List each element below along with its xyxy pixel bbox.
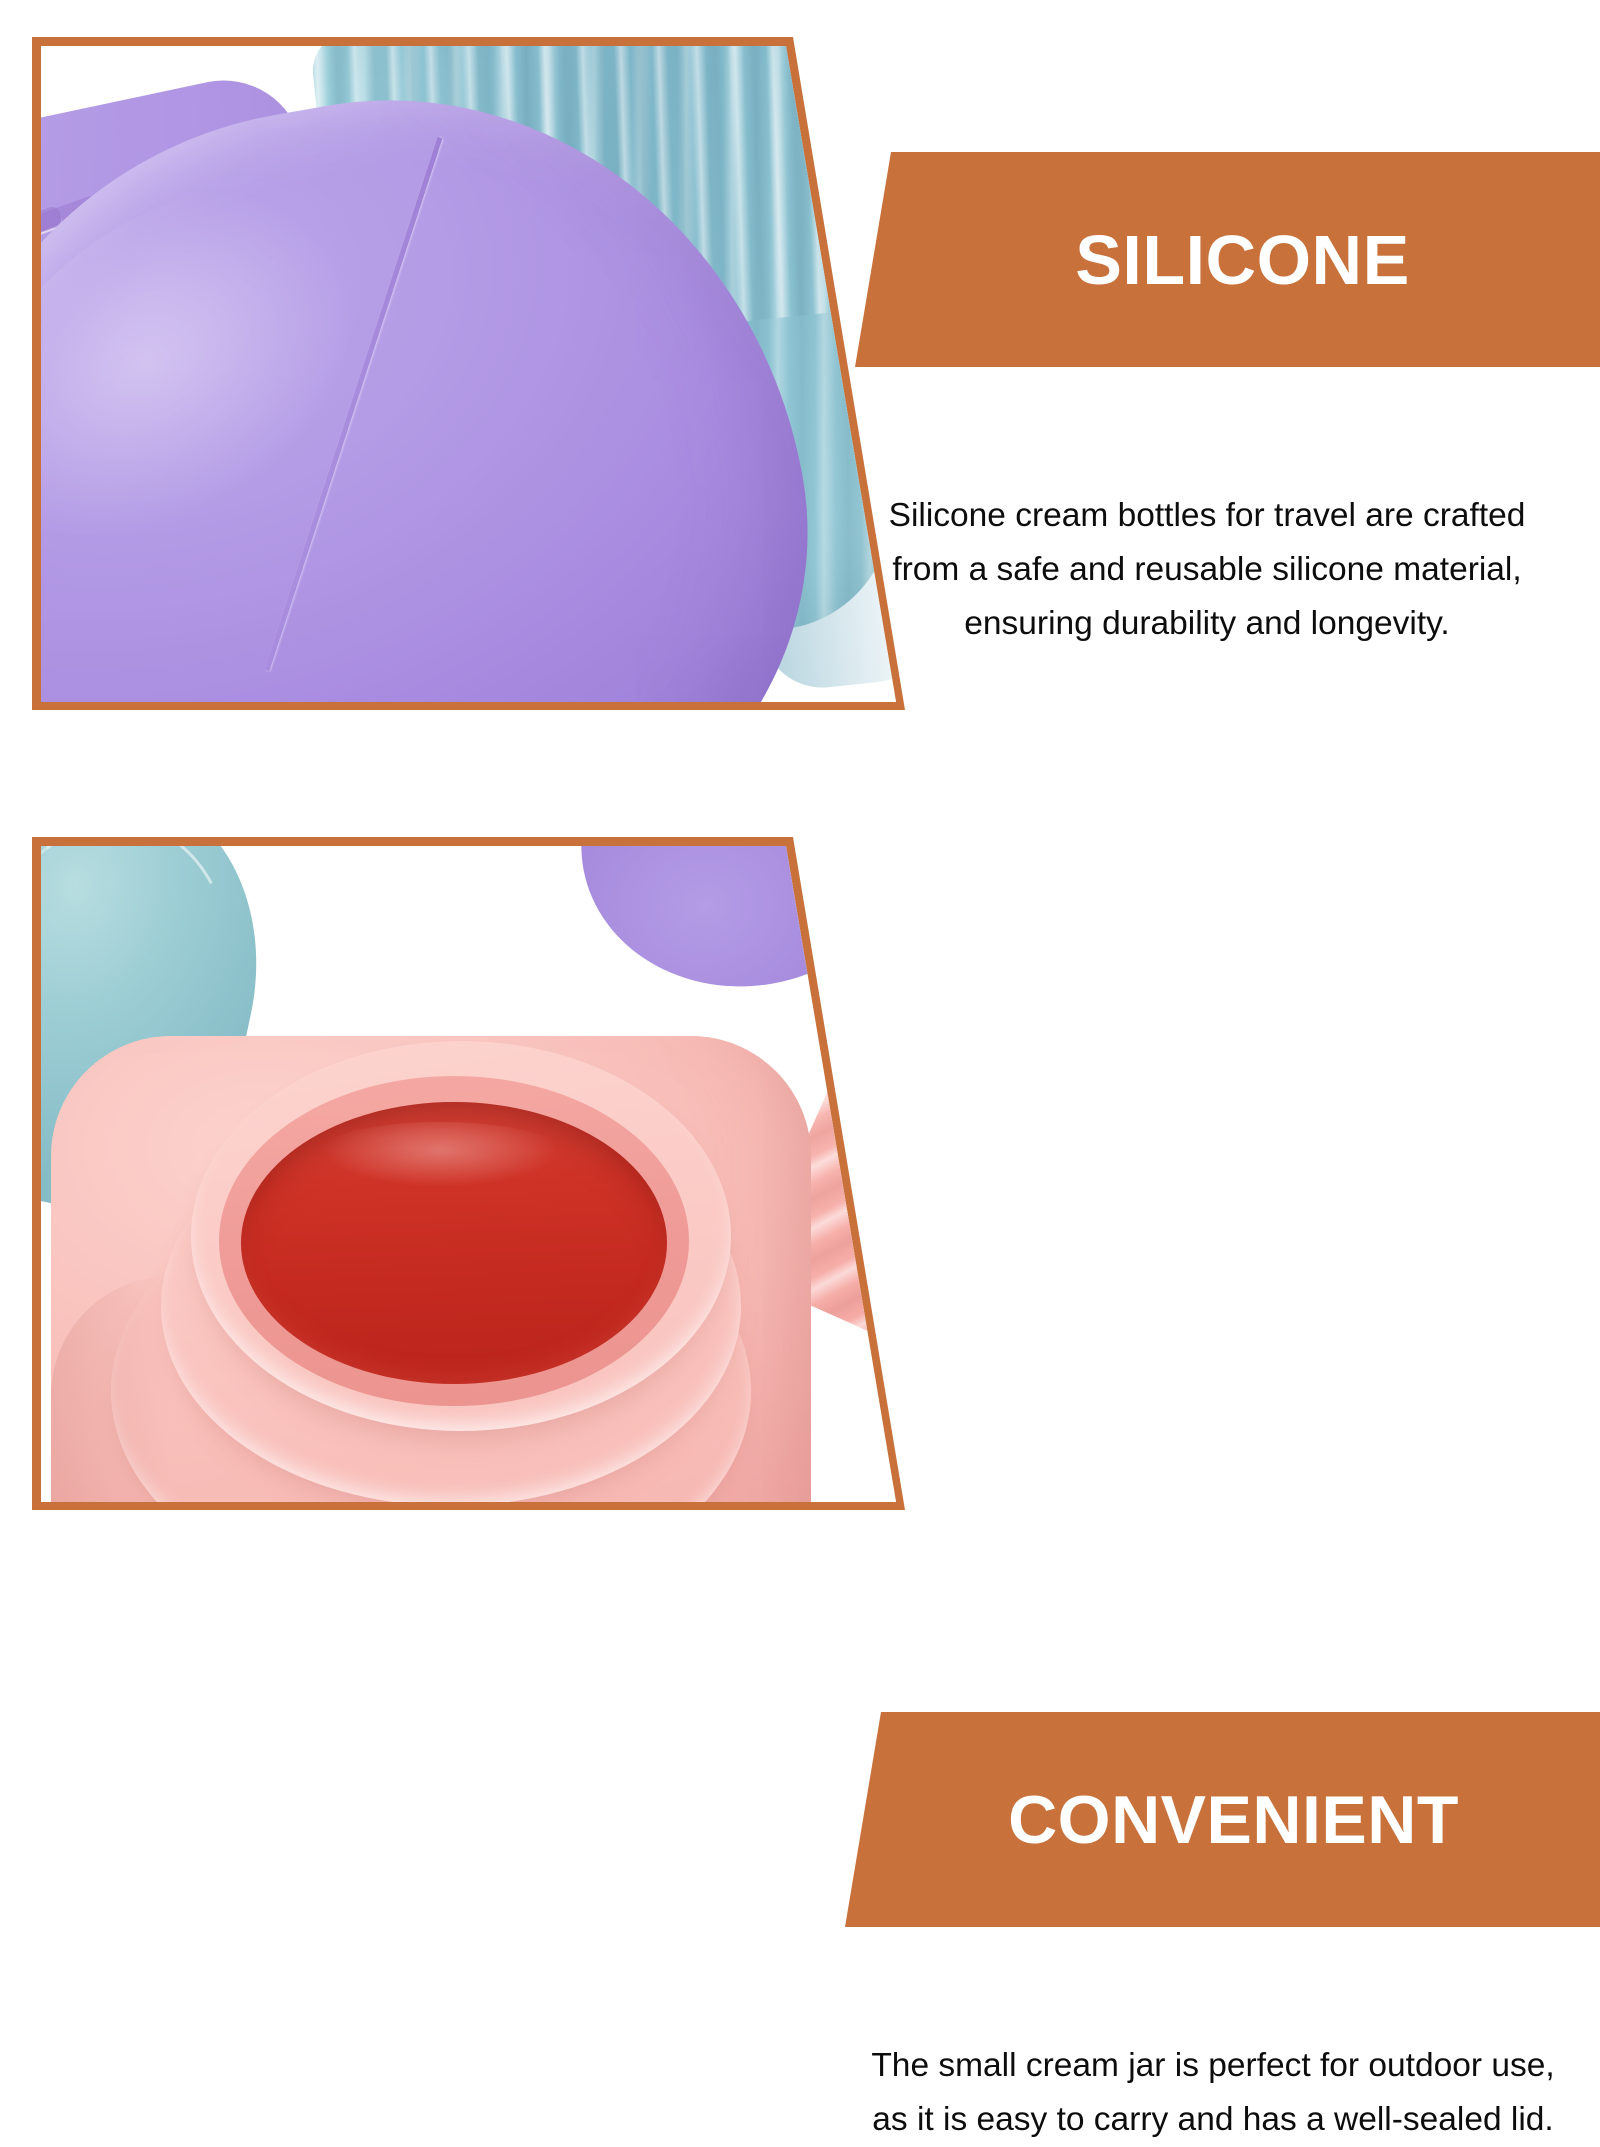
photo-image-silicone (41, 46, 907, 712)
feature-title: SILICONE (855, 225, 1600, 295)
pink-silicone-jar (51, 1036, 811, 1512)
infographic-page: SILICONE Silicone cream bottles for trav… (0, 0, 1600, 1600)
photo-scene-convenient (41, 846, 907, 1512)
feature-panel-silicone: SILICONE Silicone cream bottles for trav… (0, 0, 1600, 800)
feature-banner-convenient: CONVENIENT (845, 1712, 1600, 1927)
photo-scene-silicone (41, 46, 907, 712)
feature-description: Silicone cream bottles for travel are cr… (862, 489, 1552, 652)
jar-interior (241, 1102, 667, 1384)
jar-side-shading (51, 1276, 171, 1512)
feature-banner-silicone: SILICONE (855, 152, 1600, 367)
jar-mouth (219, 1076, 689, 1406)
photo-image-convenient (41, 846, 907, 1512)
jar-interior-highlight (311, 1122, 571, 1192)
feature-description: The small cream jar is perfect for outdo… (868, 2039, 1558, 2147)
purple-silicone-bottle (562, 846, 907, 1008)
product-photo-convenient (32, 837, 907, 1512)
feature-panel-convenient: CONVENIENT The small cream jar is perfec… (0, 800, 1600, 1600)
feature-title: CONVENIENT (845, 1786, 1600, 1854)
product-photo-silicone (32, 37, 907, 712)
